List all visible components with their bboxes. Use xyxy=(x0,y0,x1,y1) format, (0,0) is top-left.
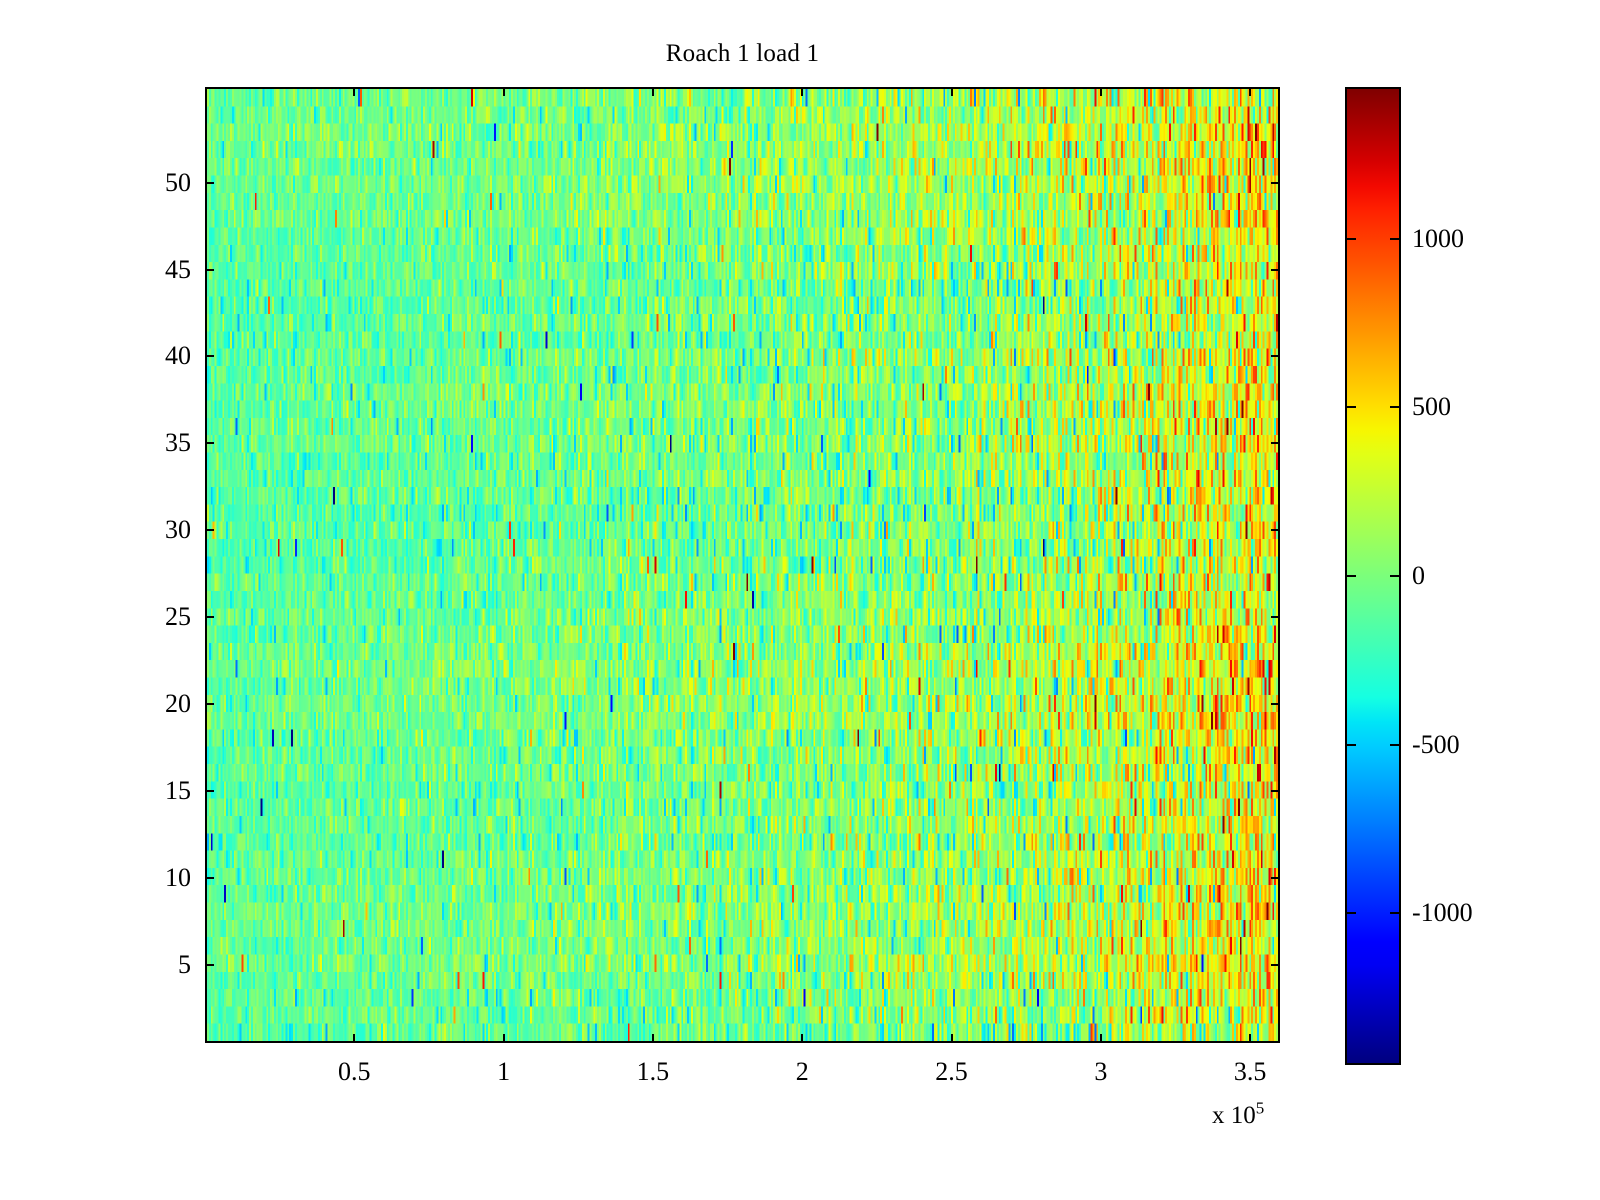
y-tick-label: 10 xyxy=(165,863,191,893)
colorbar-tick-mark-left xyxy=(1347,238,1356,240)
x-tick-mark-top xyxy=(503,87,505,96)
colorbar-tick-mark-left xyxy=(1347,744,1356,746)
x-exponent-power: 5 xyxy=(1256,1099,1265,1118)
y-tick-mark-right xyxy=(1271,529,1280,531)
colorbar-tick-label: 1000 xyxy=(1412,224,1464,254)
colorbar-tick-mark-right xyxy=(1390,744,1399,746)
colorbar-tick-label: -1000 xyxy=(1412,898,1473,928)
x-tick-mark-top xyxy=(353,87,355,96)
y-tick-mark-right xyxy=(1271,269,1280,271)
y-tick-mark-right xyxy=(1271,703,1280,705)
y-tick-label: 45 xyxy=(165,255,191,285)
x-tick-label: 2.5 xyxy=(935,1057,968,1087)
x-tick-mark xyxy=(1100,1034,1102,1043)
colorbar-tick-mark-left xyxy=(1347,406,1356,408)
y-tick-mark xyxy=(205,442,214,444)
colorbar-tick-mark-right xyxy=(1390,575,1399,577)
y-tick-label: 50 xyxy=(165,168,191,198)
x-tick-mark xyxy=(652,1034,654,1043)
y-tick-mark-right xyxy=(1271,877,1280,879)
y-tick-label: 35 xyxy=(165,428,191,458)
y-tick-mark-right xyxy=(1271,355,1280,357)
x-tick-mark-top xyxy=(951,87,953,96)
x-tick-mark xyxy=(503,1034,505,1043)
y-tick-label: 30 xyxy=(165,515,191,545)
x-exponent-base: x 10 xyxy=(1212,1102,1256,1129)
y-tick-label: 40 xyxy=(165,341,191,371)
y-tick-label: 15 xyxy=(165,776,191,806)
y-tick-mark-right xyxy=(1271,964,1280,966)
x-tick-label: 1 xyxy=(497,1057,510,1087)
matlab-figure: Roach 1 load 1 0.511.522.533.5 510152025… xyxy=(0,0,1600,1200)
colorbar-tick-mark-left xyxy=(1347,912,1356,914)
x-tick-label: 2 xyxy=(796,1057,809,1087)
y-tick-mark-right xyxy=(1271,182,1280,184)
x-tick-label: 1.5 xyxy=(637,1057,670,1087)
x-tick-mark xyxy=(1249,1034,1251,1043)
heatmap-image xyxy=(207,89,1278,1041)
y-tick-mark-right xyxy=(1271,442,1280,444)
y-tick-mark xyxy=(205,269,214,271)
y-tick-mark xyxy=(205,355,214,357)
x-tick-label: 3.5 xyxy=(1234,1057,1267,1087)
x-tick-mark-top xyxy=(1100,87,1102,96)
colorbar-tick-label: 500 xyxy=(1412,392,1451,422)
colorbar-tick-mark-right xyxy=(1390,406,1399,408)
x-tick-mark xyxy=(951,1034,953,1043)
y-tick-mark xyxy=(205,616,214,618)
x-tick-label: 0.5 xyxy=(338,1057,371,1087)
y-tick-mark xyxy=(205,182,214,184)
x-tick-mark xyxy=(353,1034,355,1043)
heatmap-axes[interactable] xyxy=(205,87,1280,1043)
y-tick-mark xyxy=(205,964,214,966)
y-tick-label: 5 xyxy=(178,950,191,980)
colorbar-tick-label: -500 xyxy=(1412,730,1460,760)
x-axis-exponent-label: x 105 xyxy=(1212,1102,1264,1130)
y-tick-mark xyxy=(205,877,214,879)
x-tick-mark-top xyxy=(1249,87,1251,96)
y-tick-label: 20 xyxy=(165,689,191,719)
x-tick-mark-top xyxy=(801,87,803,96)
page-title: Roach 1 load 1 xyxy=(205,40,1280,68)
colorbar-tick-mark-left xyxy=(1347,575,1356,577)
y-tick-mark xyxy=(205,529,214,531)
y-tick-mark xyxy=(205,790,214,792)
y-tick-mark-right xyxy=(1271,616,1280,618)
y-tick-label: 25 xyxy=(165,602,191,632)
colorbar-tick-mark-right xyxy=(1390,912,1399,914)
colorbar-tick-label: 0 xyxy=(1412,561,1425,591)
colorbar-tick-mark-right xyxy=(1390,238,1399,240)
y-tick-mark-right xyxy=(1271,790,1280,792)
x-tick-mark-top xyxy=(652,87,654,96)
x-tick-label: 3 xyxy=(1094,1057,1107,1087)
x-tick-mark xyxy=(801,1034,803,1043)
y-tick-mark xyxy=(205,703,214,705)
